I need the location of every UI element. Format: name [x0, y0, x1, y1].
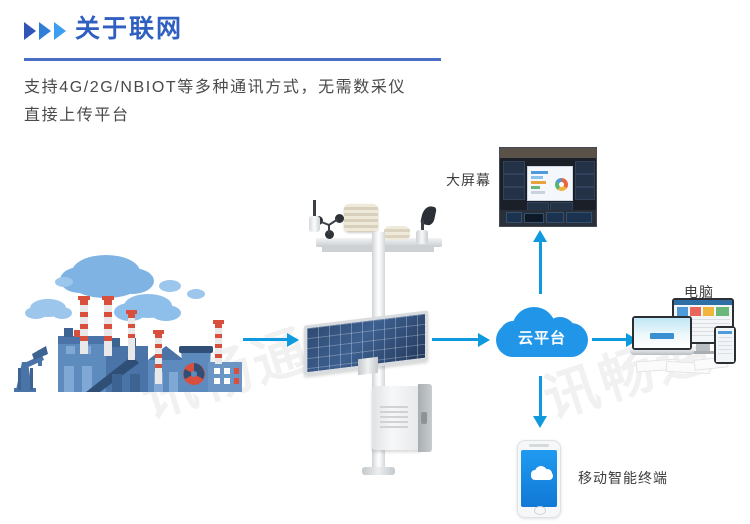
- radiation-shield-small-icon: [384, 226, 410, 240]
- radiation-shield-icon: [344, 204, 378, 232]
- station-base: [362, 467, 395, 475]
- solar-panel-mount: [358, 357, 378, 375]
- label-mobile-terminal: 移动智能终端: [578, 468, 668, 488]
- triangle-right-icon-2: [39, 22, 51, 40]
- cloud-platform-label: 云平台: [496, 327, 588, 348]
- laptop: [630, 316, 694, 358]
- subtitle-line-1: 支持4G/2G/NBIOT等多种通讯方式，无需数采仪: [24, 74, 494, 102]
- mobile-phone-device: [517, 440, 561, 518]
- cloud-platform-node[interactable]: 云平台: [496, 305, 588, 367]
- header-divider: [24, 58, 441, 61]
- subtitle-line-2: 直接上传平台: [24, 102, 494, 130]
- triangle-right-icon-3: [54, 22, 66, 40]
- triangle-right-icon-1: [24, 22, 36, 40]
- page-title: 关于联网: [75, 17, 183, 42]
- computer-devices-group: [630, 298, 740, 390]
- section-header: 关于联网: [24, 18, 183, 43]
- tablet-device: [714, 326, 736, 364]
- monitor-neck: [696, 344, 710, 351]
- wind-vane-housing: [416, 230, 428, 244]
- section-subtitle: 支持4G/2G/NBIOT等多种通讯方式，无需数采仪 直接上传平台: [24, 74, 494, 130]
- control-box: [372, 386, 422, 450]
- control-box-latch: [421, 412, 427, 424]
- triangle-bullets: [24, 22, 66, 40]
- page-root: 关于联网 支持4G/2G/NBIOT等多种通讯方式，无需数采仪 直接上传平台 讯…: [0, 0, 750, 524]
- weather-station-illustration: [300, 190, 450, 500]
- phone-app-cloud-icon: [531, 466, 553, 479]
- industrial-factory-illustration: [8, 250, 278, 415]
- big-screen-photo: [499, 147, 597, 227]
- label-big-screen: 大屏幕: [446, 170, 491, 190]
- label-computer: 电脑: [684, 282, 714, 302]
- network-diagram: 大屏幕 云平台: [0, 130, 750, 524]
- anemometer-stem: [313, 200, 316, 217]
- factory-svg: [8, 250, 278, 415]
- anemometer-housing: [309, 216, 320, 232]
